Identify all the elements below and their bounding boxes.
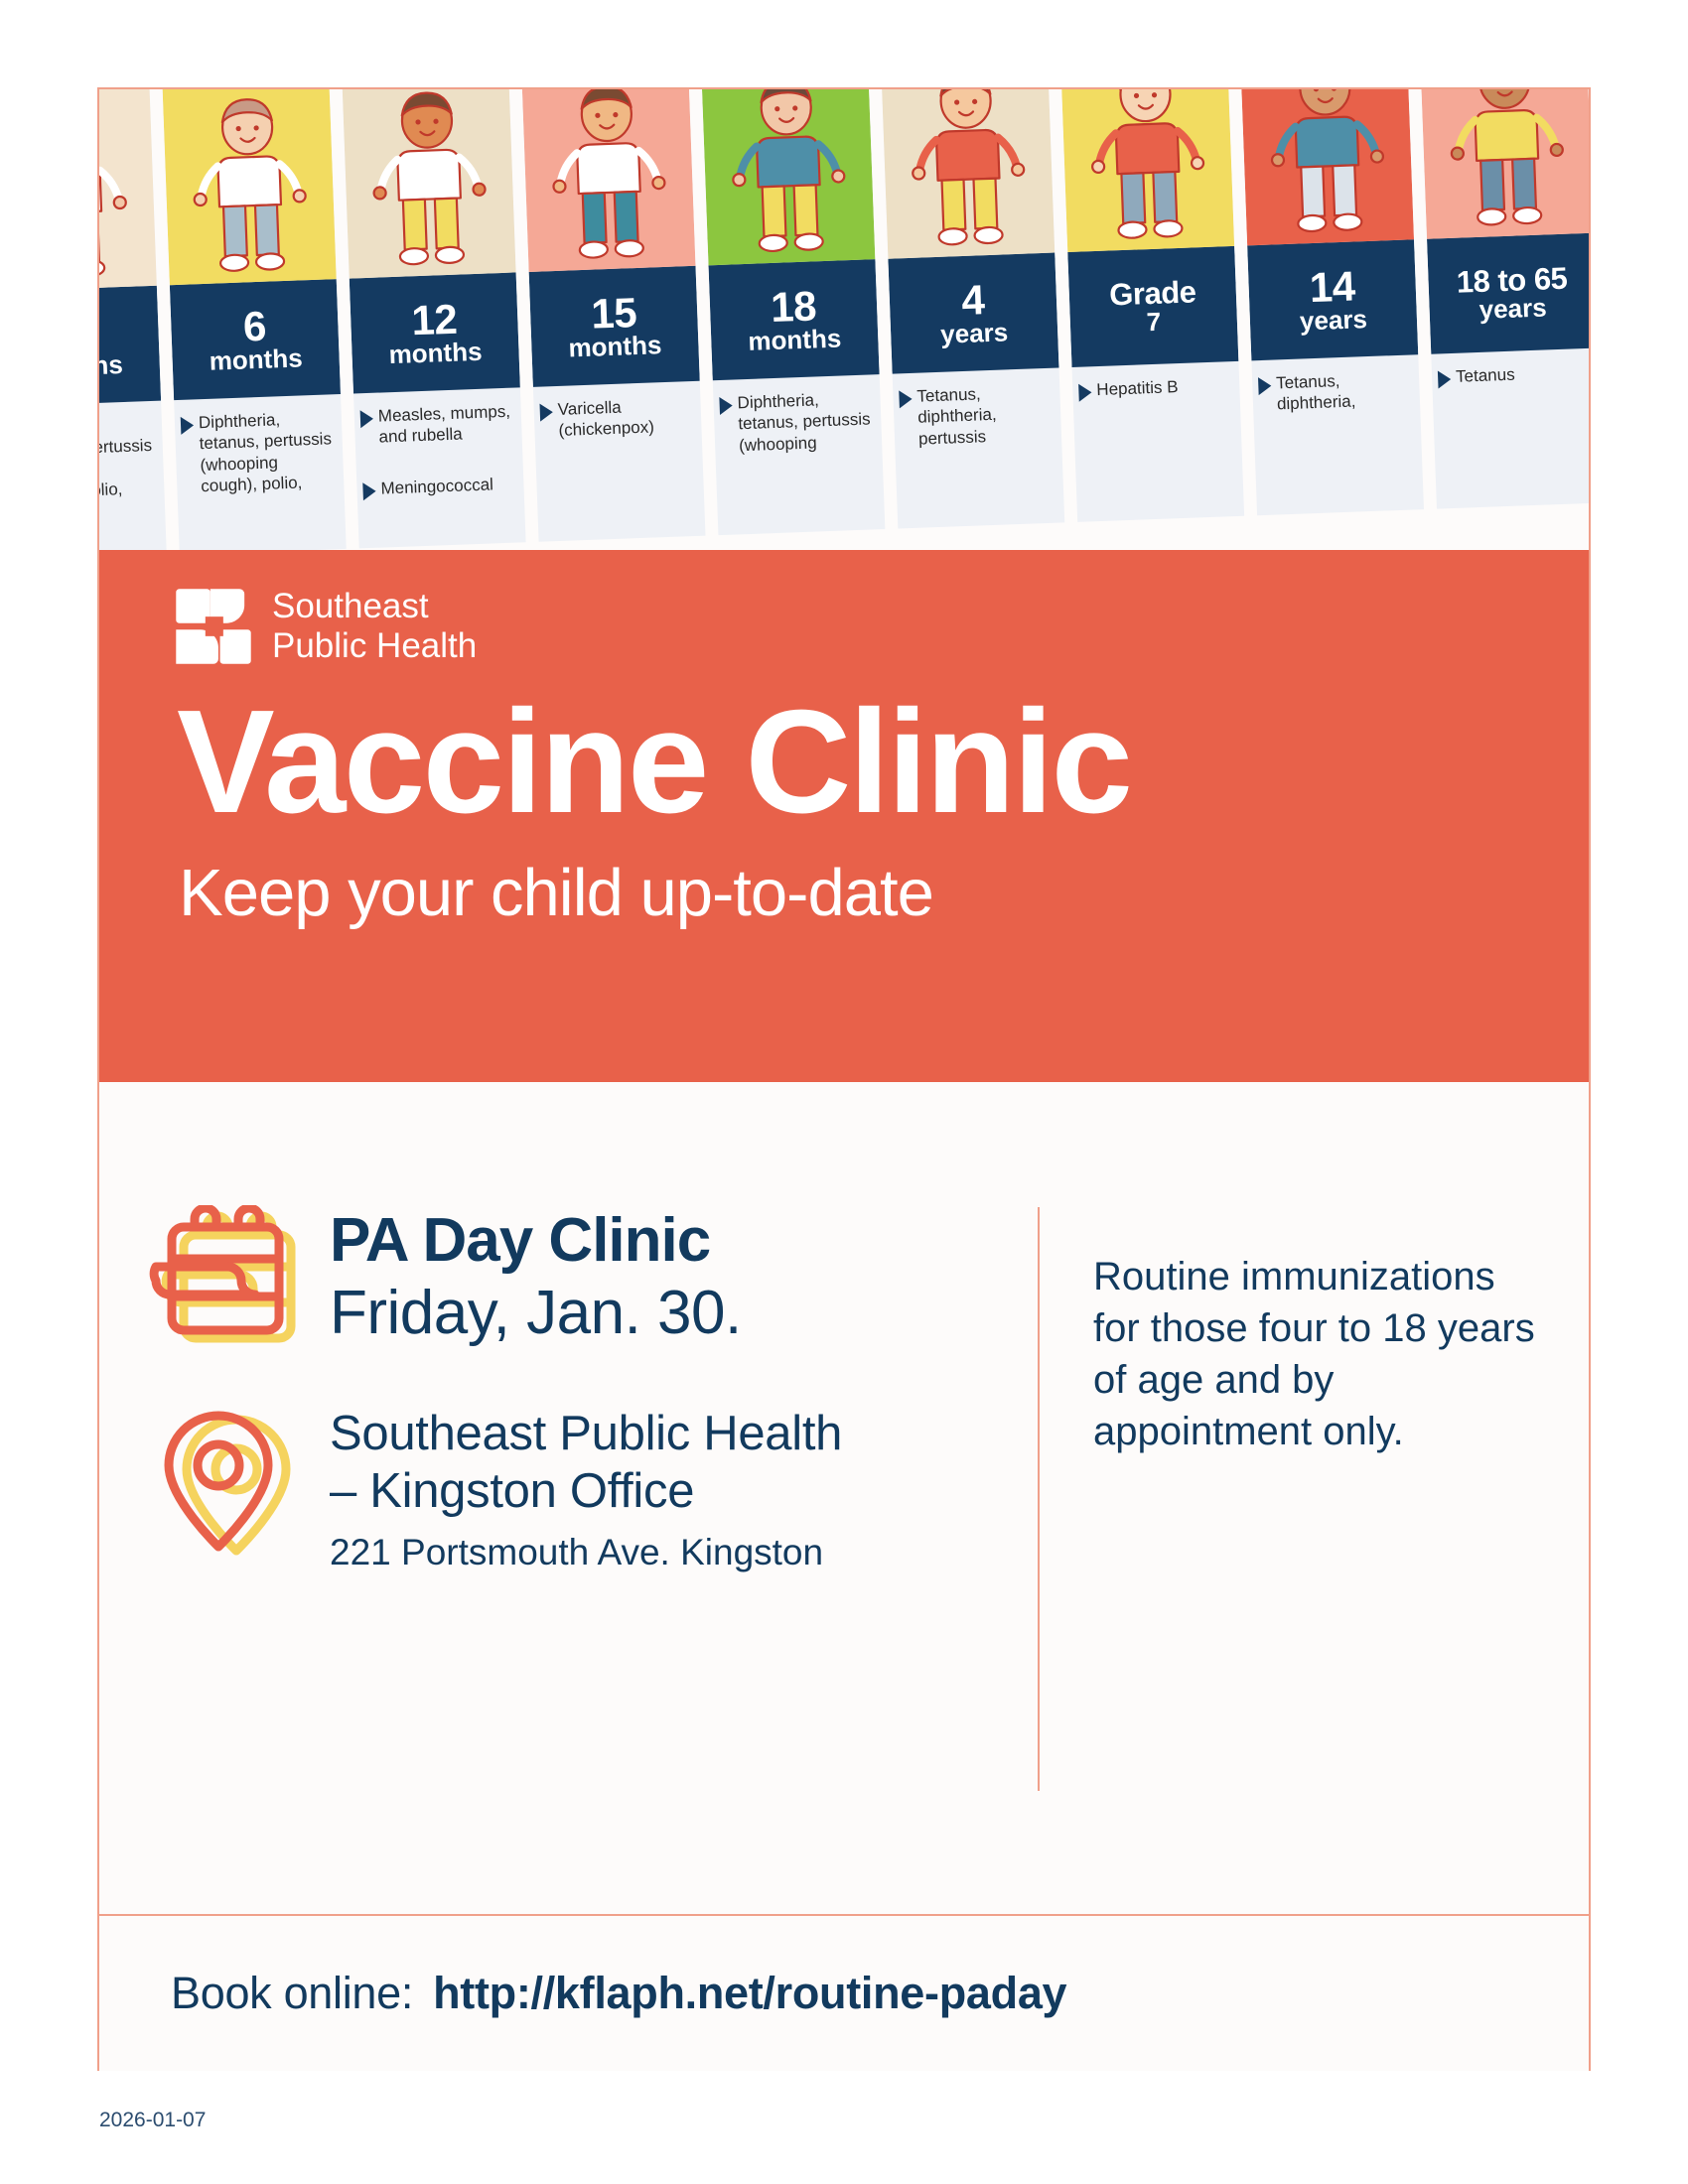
vaccine-schedule-strip: 2monthsDiphtheria, tetanus, pertussis (w… bbox=[99, 89, 1589, 550]
vaccine-name: Hepatitis B bbox=[1096, 376, 1179, 400]
infant-illustration bbox=[99, 89, 157, 292]
leaf-logo-mark-icon bbox=[173, 586, 254, 667]
schedule-card-vaccines: Diphtheria, tetanus, pertussis (whooping bbox=[713, 374, 886, 535]
map-pin-icon bbox=[147, 1402, 304, 1566]
adult-phone-illustration bbox=[1419, 89, 1589, 239]
calendar-icon bbox=[147, 1205, 304, 1354]
age-number: 12 bbox=[411, 299, 458, 341]
child-standing-illustration bbox=[701, 89, 876, 265]
bullet-triangle-icon bbox=[362, 481, 376, 499]
vaccine-name: Tetanus, diphtheria, pertussis bbox=[916, 381, 1053, 450]
schedule-card-vaccines: Tetanus, diphtheria, pertussis bbox=[893, 367, 1065, 528]
vaccine-name: Diphtheria, tetanus, pertussis (whooping… bbox=[99, 414, 157, 525]
teen-backpack-illustration bbox=[1239, 89, 1414, 245]
bullet-triangle-icon bbox=[1078, 383, 1092, 401]
toddler-walking-illustration bbox=[342, 89, 516, 279]
age-number: 15 bbox=[591, 292, 637, 335]
schedule-card-vaccines-secondary: Meningococcal bbox=[356, 471, 526, 549]
vaccine-name: Varicella (chickenpox) bbox=[557, 394, 692, 442]
vaccine-clinic-poster: 2monthsDiphtheria, tetanus, pertussis (w… bbox=[0, 0, 1688, 2184]
age-unit: years bbox=[1478, 294, 1547, 323]
age-number: 14 bbox=[1309, 266, 1355, 309]
schedule-card: 15monthsVaricella (chickenpox) bbox=[521, 89, 706, 542]
schedule-card-vaccines: Varicella (chickenpox) bbox=[533, 381, 706, 542]
clinic-details-section: PA Day Clinic Friday, Jan. 30. bbox=[99, 1082, 1589, 1914]
clinic-location-block: Southeast Public Health – Kingston Offic… bbox=[147, 1402, 1038, 1574]
location-address: 221 Portsmouth Ave. Kingston bbox=[330, 1531, 842, 1574]
vaccine-name: Tetanus, diphtheria, bbox=[1276, 368, 1411, 416]
schedule-card: 12monthsMeasles, mumps, and rubellaMenin… bbox=[342, 89, 526, 548]
age-unit: months bbox=[748, 326, 842, 355]
logo-line-2: Public Health bbox=[272, 626, 477, 666]
vaccine-name: Diphtheria, tetanus, pertussis (whooping… bbox=[199, 407, 336, 497]
bullet-triangle-icon bbox=[360, 410, 374, 428]
schedule-card: 18 to 65yearsTetanus bbox=[1419, 89, 1589, 509]
boy-soccer-ball-illustration bbox=[1059, 89, 1234, 252]
schedule-card-vaccines: Diphtheria, tetanus, pertussis (whooping… bbox=[99, 401, 167, 550]
schedule-card: 4yearsTetanus, diphtheria, pertussis bbox=[880, 89, 1064, 529]
schedule-card-age: 18 to 65years bbox=[1427, 233, 1589, 354]
schedule-card-age: 18months bbox=[709, 259, 880, 380]
schedule-card: Grade7Hepatitis B bbox=[1059, 89, 1244, 522]
age-unit: months bbox=[388, 339, 483, 368]
clinic-name: PA Day Clinic bbox=[330, 1209, 742, 1273]
schedule-card-vaccines: Tetanus bbox=[1431, 348, 1589, 509]
schedule-card-age: 4years bbox=[888, 253, 1058, 374]
bullet-triangle-icon bbox=[1258, 377, 1272, 395]
age-number: 6 bbox=[242, 306, 266, 347]
bullet-triangle-icon bbox=[899, 390, 913, 408]
schedule-card: 6monthsDiphtheria, tetanus, pertussis (w… bbox=[162, 89, 347, 550]
age-number: 18 bbox=[770, 286, 816, 329]
schedule-card-vaccines: Hepatitis B bbox=[1072, 361, 1245, 522]
booking-url-link[interactable]: http://kflaph.net/routine-paday bbox=[433, 1968, 1066, 2019]
age-unit: months bbox=[568, 332, 662, 361]
age-unit: months bbox=[99, 351, 123, 381]
schedule-card-vaccines: Diphtheria, tetanus, pertussis (whooping… bbox=[174, 394, 347, 550]
schedule-card-age: 14years bbox=[1247, 239, 1418, 360]
age-unit: years bbox=[940, 320, 1009, 348]
age-number: 18 to 65 bbox=[1456, 263, 1567, 297]
age-number: Grade bbox=[1109, 277, 1196, 311]
vaccine-name: Meningococcal bbox=[380, 474, 493, 499]
details-right-column: Routine immunizations for those four to … bbox=[1040, 1082, 1589, 1914]
child-arms-out-illustration bbox=[521, 89, 696, 272]
page-title: Vaccine Clinic bbox=[177, 689, 1589, 836]
book-online-label: Book online: bbox=[171, 1968, 413, 2019]
schedule-card-row: 2monthsDiphtheria, tetanus, pertussis (w… bbox=[99, 89, 1589, 550]
bullet-triangle-icon bbox=[1438, 370, 1452, 388]
details-left-column: PA Day Clinic Friday, Jan. 30. bbox=[99, 1082, 1038, 1914]
schedule-card: 14yearsTetanus, diphtheria, bbox=[1239, 89, 1424, 515]
bullet-triangle-icon bbox=[181, 416, 195, 434]
title-banner: Southeast Public Health Vaccine Clinic K… bbox=[99, 550, 1589, 1082]
age-unit: months bbox=[209, 345, 303, 375]
schedule-card-vaccines: Measles, mumps, and rubella bbox=[353, 387, 523, 477]
clinic-text: PA Day Clinic Friday, Jan. 30. bbox=[330, 1205, 742, 1349]
seated-baby-illustration bbox=[162, 89, 337, 285]
vaccine-name: Tetanus bbox=[1456, 364, 1515, 388]
schedule-card-age: 6months bbox=[170, 279, 341, 400]
vaccine-name: Measles, mumps, and rubella bbox=[377, 401, 512, 449]
booking-footer: Book online: http://kflaph.net/routine-p… bbox=[99, 1916, 1589, 2071]
girl-waving-illustration bbox=[880, 89, 1055, 259]
schedule-card-age: Grade7 bbox=[1067, 246, 1238, 367]
age-number: 4 bbox=[961, 279, 985, 321]
location-name-line-2: – Kingston Office bbox=[330, 1463, 842, 1521]
clinic-date: Friday, Jan. 30. bbox=[330, 1279, 742, 1349]
age-unit: 7 bbox=[1146, 309, 1161, 336]
age-unit: years bbox=[1300, 306, 1368, 335]
schedule-card: 18monthsDiphtheria, tetanus, pertussis (… bbox=[701, 89, 886, 535]
bullet-triangle-icon bbox=[719, 397, 733, 415]
clinic-date-block: PA Day Clinic Friday, Jan. 30. bbox=[147, 1205, 1038, 1354]
schedule-card-age: 12months bbox=[350, 272, 520, 393]
schedule-card-age: 15months bbox=[529, 266, 700, 387]
organization-logo: Southeast Public Health bbox=[173, 586, 1589, 667]
schedule-card-age: 2months bbox=[99, 286, 161, 407]
location-text: Southeast Public Health – Kingston Offic… bbox=[330, 1402, 842, 1574]
vaccine-name: Diphtheria, tetanus, pertussis (whooping bbox=[737, 387, 873, 456]
logo-wordmark: Southeast Public Health bbox=[272, 587, 477, 666]
location-name-line-1: Southeast Public Health bbox=[330, 1406, 842, 1463]
bullet-triangle-icon bbox=[539, 403, 553, 421]
schedule-card-vaccines: Tetanus, diphtheria, bbox=[1251, 354, 1424, 515]
eligibility-note: Routine immunizations for those four to … bbox=[1093, 1251, 1549, 1457]
page-subtitle: Keep your child up-to-date bbox=[179, 858, 1589, 929]
schedule-card: 2monthsDiphtheria, tetanus, pertussis (w… bbox=[99, 89, 167, 550]
logo-line-1: Southeast bbox=[272, 587, 477, 626]
date-stamp: 2026-01-07 bbox=[99, 2109, 206, 2132]
